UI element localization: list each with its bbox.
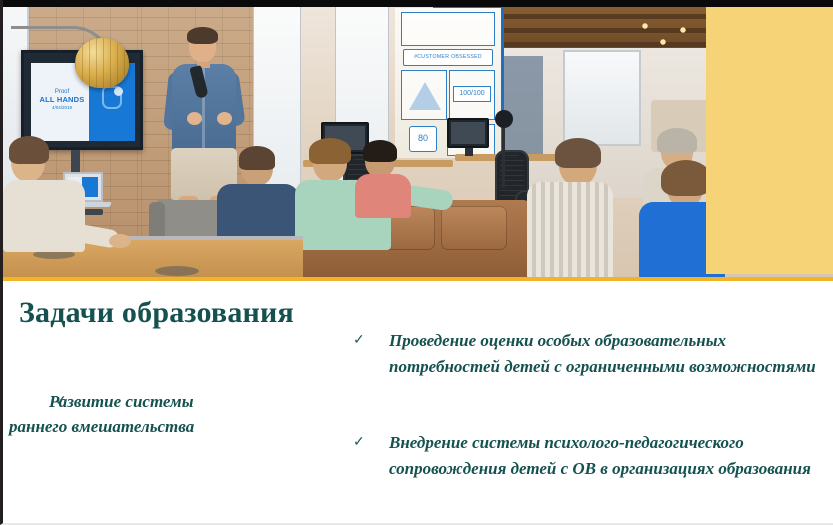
presenter-hair — [187, 27, 218, 44]
screen-line-3: 4/04/2019 — [31, 105, 93, 110]
check-icon: ✓ — [353, 432, 365, 453]
monitor-2-stand — [465, 148, 473, 156]
attendee-1-hair — [239, 146, 275, 170]
table-object-2 — [155, 266, 199, 276]
attendee-6-hair — [661, 160, 711, 196]
attendee-2-hair — [309, 138, 351, 164]
header-photograph: #CUSTOMER OBSESSED 100/100 80 Proof ALL … — [3, 0, 833, 281]
presenter-hand-right — [217, 112, 232, 125]
bullet-right-first-text: Проведение оценки особых образовательных… — [389, 328, 825, 379]
monitor-2 — [447, 118, 489, 148]
attendee-5-hair — [657, 128, 697, 154]
speaker-head — [495, 110, 513, 128]
mural-number: 100/100 — [453, 86, 491, 102]
bullet-left: ✓ Развитие системы раннего вмешательства — [49, 390, 339, 439]
gold-pendant-lamp — [75, 38, 129, 88]
tripod-pole — [502, 128, 505, 188]
attendee-7-hair — [9, 136, 49, 164]
bullet-left-line-1: Развитие системы — [49, 390, 339, 415]
page-title: Задачи образования — [19, 296, 294, 330]
mural-sketch-top — [401, 12, 495, 46]
check-icon: ✓ — [55, 392, 67, 412]
attendee-4-hair — [555, 138, 601, 168]
yellow-highlight-block — [706, 6, 833, 274]
monitor-2-screen — [451, 122, 485, 144]
screen-line-2: ALL HANDS — [31, 96, 93, 105]
presenter-hand-left — [187, 112, 202, 125]
bullet-right-second-text: Внедрение системы психолого-педагогическ… — [389, 430, 825, 481]
attendee-7-hand — [109, 234, 131, 248]
blue-door-panel — [503, 56, 543, 156]
presentation-slide: #CUSTOMER OBSESSED 100/100 80 Proof ALL … — [0, 0, 833, 525]
mural-triangle — [409, 82, 441, 110]
mural-badge: 80 — [409, 126, 437, 152]
back-window — [563, 50, 641, 146]
mural-banner-text: #CUSTOMER OBSESSED — [403, 49, 493, 66]
attendee-3-shirt — [355, 174, 411, 218]
bullet-left-line-2: раннего вмешательства — [9, 415, 339, 440]
attendee-3-hair — [363, 140, 397, 162]
couch-cushion-3 — [441, 206, 507, 250]
bullet-right-second: ✓ Внедрение системы психолого-педагогиче… — [389, 430, 825, 481]
photo-gold-underline — [3, 277, 833, 281]
check-icon: ✓ — [353, 330, 365, 351]
photo-top-bar — [3, 0, 833, 7]
attendee-4-shirt — [527, 182, 613, 279]
screen-title-block: Proof ALL HANDS 4/04/2019 — [31, 89, 93, 110]
bullet-right-first: ✓ Проведение оценки особых образовательн… — [389, 328, 825, 379]
